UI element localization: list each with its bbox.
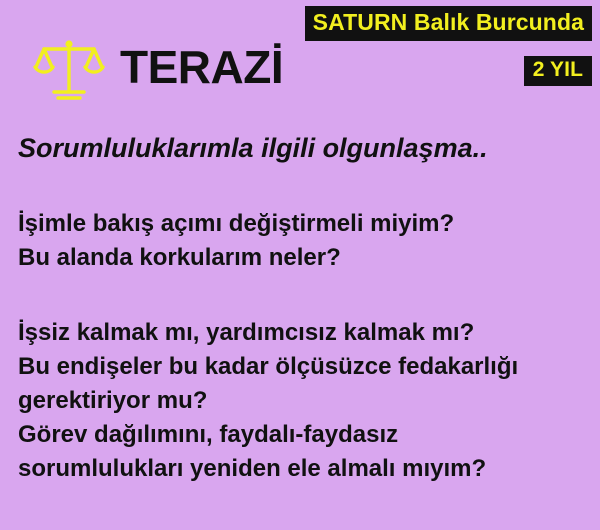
body-line: İşimle bakış açımı değiştirmeli miyim? (18, 207, 588, 241)
horoscope-card: SATURN Balık Burcunda 2 YIL (0, 0, 600, 530)
status-badge-duration: 2 YIL (524, 56, 592, 86)
body-line: Bu alanda korkularım neler? (18, 241, 588, 275)
page-title: TERAZİ (120, 44, 283, 94)
body-line: sorumlulukları yeniden ele almalı mıyım? (18, 452, 588, 486)
body-line: İşsiz kalmak mı, yardımcısız kalmak mı? (18, 316, 588, 350)
libra-scales-icon (32, 36, 106, 102)
status-badge-saturn: SATURN Balık Burcunda (305, 6, 592, 41)
body-paragraph-1: İşimle bakış açımı değiştirmeli miyim? B… (18, 207, 588, 275)
body-line: Bu endişeler bu kadar ölçüsüzce fedakarl… (18, 350, 588, 384)
headline-text: Sorumluluklarımla ilgili olgunlaşma.. (18, 133, 588, 164)
body-line: Görev dağılımını, faydalı-faydasız (18, 418, 588, 452)
body-paragraph-2: İşsiz kalmak mı, yardımcısız kalmak mı? … (18, 316, 588, 486)
zodiac-sign-row: TERAZİ (32, 36, 283, 102)
body-line: gerektiriyor mu? (18, 384, 588, 418)
